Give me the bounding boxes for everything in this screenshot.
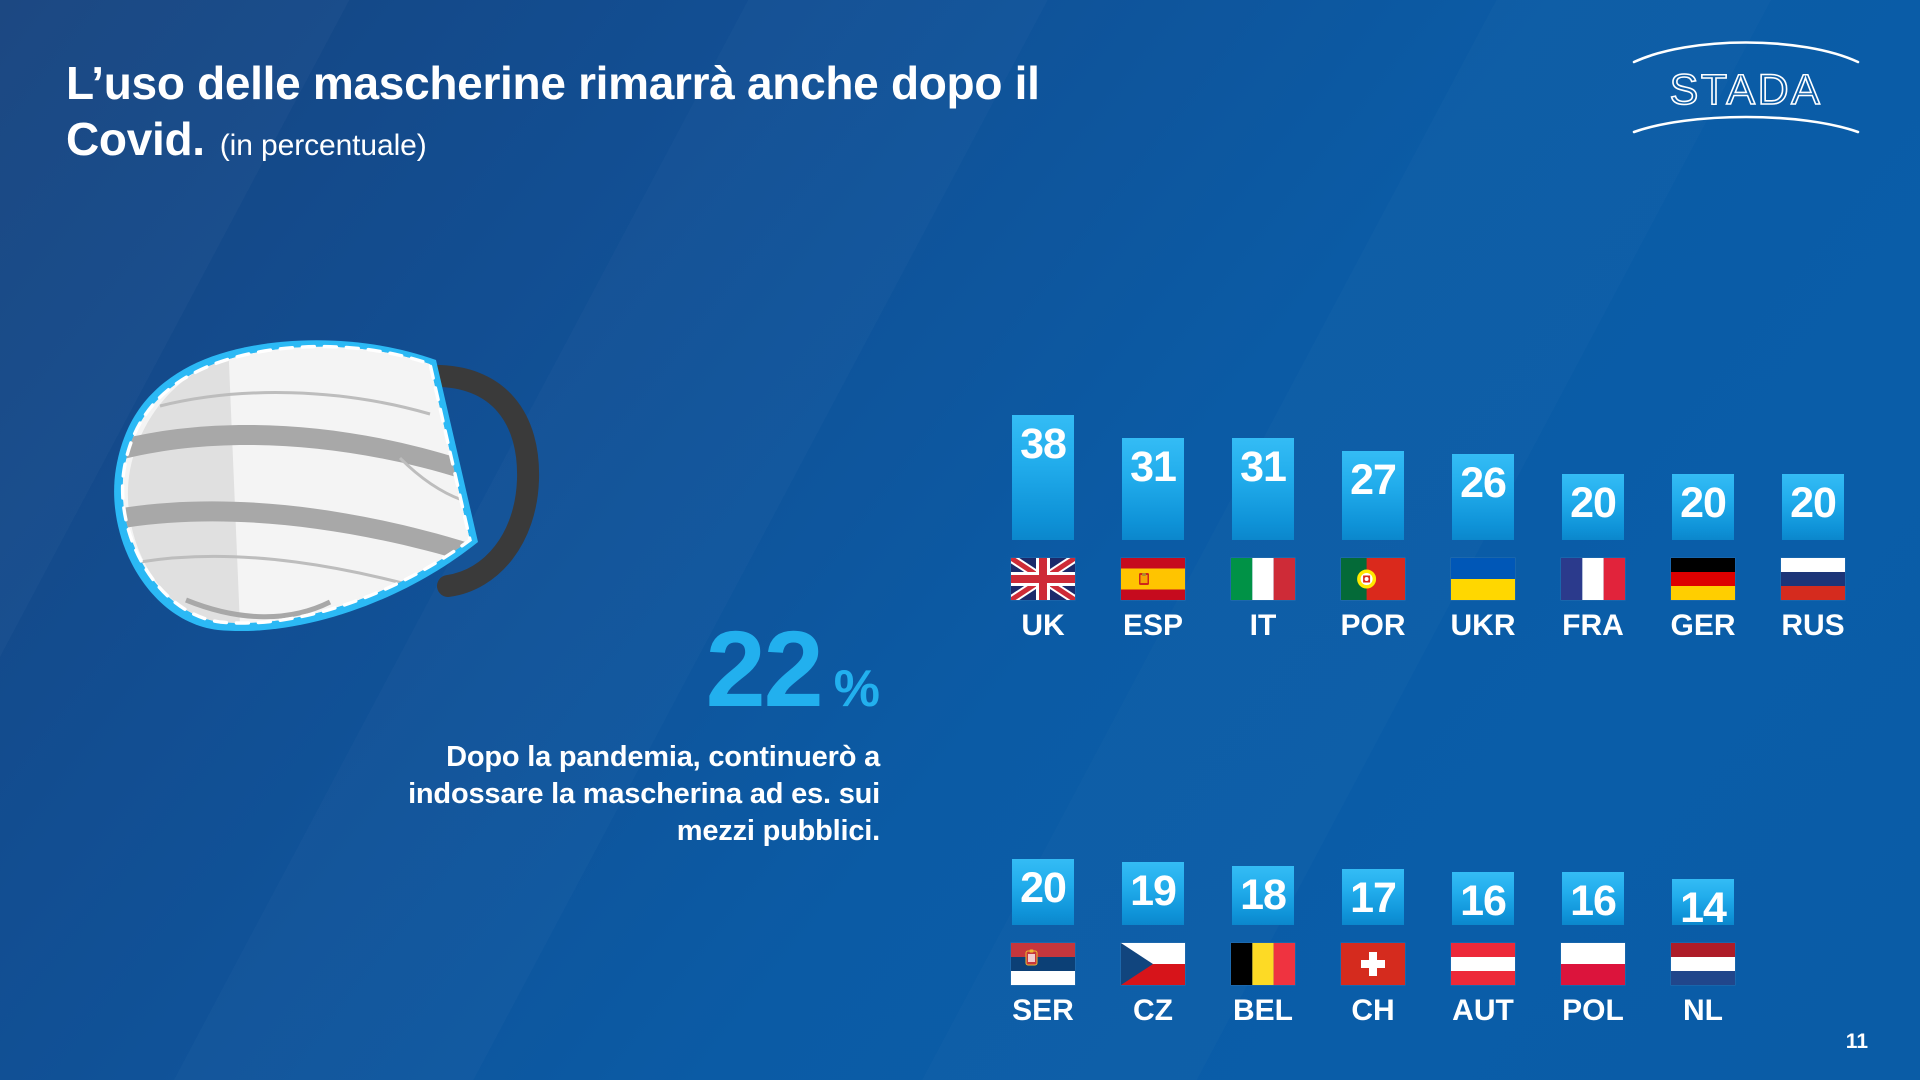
- value-bar: 18: [1232, 866, 1294, 925]
- bar-value-label: 20: [1562, 482, 1624, 525]
- bar-value-label: 26: [1452, 462, 1514, 505]
- value-bar: 38: [1012, 415, 1074, 540]
- bar-value-label: 31: [1122, 446, 1184, 489]
- country-stat-cz: 19 CZ: [1098, 800, 1208, 1026]
- country-stat-ger: 20 GER: [1648, 415, 1758, 641]
- bar-value-label: 31: [1232, 446, 1294, 489]
- value-bar: 14: [1672, 879, 1734, 925]
- value-bar: 20: [1782, 474, 1844, 540]
- headline-stat-number: 22 %: [706, 615, 880, 723]
- bar-zone: 31: [1208, 415, 1318, 540]
- headline-stat-unit: %: [834, 663, 880, 715]
- country-code-label: IT: [1250, 611, 1277, 641]
- country-stat-aut: 16 AUT: [1428, 800, 1538, 1026]
- country-stat-ch: 17 CH: [1318, 800, 1428, 1026]
- czech-republic-flag: [1121, 943, 1185, 985]
- country-code-label: CH: [1351, 996, 1394, 1026]
- bar-value-label: 20: [1672, 482, 1734, 525]
- bar-zone: 20: [1648, 415, 1758, 540]
- value-bar: 16: [1562, 872, 1624, 925]
- country-stat-ser: 20 SER: [988, 800, 1098, 1026]
- bar-value-label: 27: [1342, 459, 1404, 502]
- country-code-label: BEL: [1233, 996, 1293, 1026]
- bar-zone: 20: [1758, 415, 1868, 540]
- value-bar: 31: [1122, 438, 1184, 540]
- switzerland-flag: [1341, 943, 1405, 985]
- bar-zone: 19: [1098, 800, 1208, 925]
- country-code-label: GER: [1670, 611, 1735, 641]
- bar-zone: 38: [988, 415, 1098, 540]
- bar-value-label: 20: [1012, 867, 1074, 910]
- country-code-label: FRA: [1562, 611, 1624, 641]
- bar-value-label: 19: [1122, 870, 1184, 913]
- bar-value-label: 20: [1782, 482, 1844, 525]
- country-code-label: CZ: [1133, 996, 1173, 1026]
- country-row-2: 20 SER19 CZ18 BEL17 CH16 AUT16 POL14 NL: [988, 800, 1758, 1026]
- bar-value-label: 18: [1232, 874, 1294, 917]
- country-stat-por: 27 POR: [1318, 415, 1428, 641]
- headline-stat-value: 22: [706, 615, 822, 723]
- italy-flag: [1231, 558, 1295, 600]
- title-line-2-main: Covid.: [66, 111, 205, 167]
- stada-logo: STADA: [1630, 32, 1862, 144]
- value-bar: 20: [1562, 474, 1624, 540]
- netherlands-flag: [1671, 943, 1735, 985]
- bar-zone: 16: [1428, 800, 1538, 925]
- bar-zone: 18: [1208, 800, 1318, 925]
- bar-value-label: 16: [1452, 880, 1514, 923]
- country-stat-bel: 18 BEL: [1208, 800, 1318, 1026]
- bar-zone: 27: [1318, 415, 1428, 540]
- country-stat-nl: 14 NL: [1648, 800, 1758, 1026]
- serbia-flag: [1011, 943, 1075, 985]
- bar-zone: 20: [1538, 415, 1648, 540]
- bar-zone: 17: [1318, 800, 1428, 925]
- country-code-label: ESP: [1123, 611, 1183, 641]
- russia-flag: [1781, 558, 1845, 600]
- value-bar: 16: [1452, 872, 1514, 925]
- country-code-label: UKR: [1451, 611, 1516, 641]
- value-bar: 20: [1012, 859, 1074, 925]
- country-code-label: NL: [1683, 996, 1723, 1026]
- country-code-label: RUS: [1781, 611, 1844, 641]
- svg-text:STADA: STADA: [1670, 66, 1823, 114]
- poland-flag: [1561, 943, 1625, 985]
- country-stat-it: 31 IT: [1208, 415, 1318, 641]
- united-kingdom-flag: [1011, 558, 1075, 600]
- france-flag: [1561, 558, 1625, 600]
- title-subtitle: (in percentuale): [220, 118, 427, 174]
- title-line-2: Covid. (in percentuale): [66, 111, 1326, 174]
- country-code-label: UK: [1021, 611, 1064, 641]
- bar-value-label: 17: [1342, 877, 1404, 920]
- bar-zone: 14: [1648, 800, 1758, 925]
- country-code-label: POR: [1340, 611, 1405, 641]
- page-number: 11: [1846, 1030, 1868, 1054]
- bar-value-label: 38: [1012, 423, 1074, 466]
- value-bar: 17: [1342, 869, 1404, 925]
- country-code-label: POL: [1562, 996, 1624, 1026]
- headline-statistic: 22 % Dopo la pandemia, continuerò a indo…: [380, 615, 880, 850]
- country-code-label: SER: [1012, 996, 1074, 1026]
- portugal-flag: [1341, 558, 1405, 600]
- country-stat-rus: 20 RUS: [1758, 415, 1868, 641]
- bar-value-label: 16: [1562, 880, 1624, 923]
- germany-flag: [1671, 558, 1735, 600]
- spain-flag: [1121, 558, 1185, 600]
- belgium-flag: [1231, 943, 1295, 985]
- value-bar: 31: [1232, 438, 1294, 540]
- value-bar: 26: [1452, 454, 1514, 540]
- country-code-label: AUT: [1452, 996, 1514, 1026]
- title-line-1: L’uso delle mascherine rimarrà anche dop…: [66, 55, 1326, 111]
- country-row-1: 38 UK31 ESP31 IT27 POR26 UKR20 FRA20 GER…: [988, 415, 1868, 641]
- bar-zone: 16: [1538, 800, 1648, 925]
- country-stat-fra: 20 FRA: [1538, 415, 1648, 641]
- value-bar: 20: [1672, 474, 1734, 540]
- country-stat-uk: 38 UK: [988, 415, 1098, 641]
- value-bar: 27: [1342, 451, 1404, 540]
- austria-flag: [1451, 943, 1515, 985]
- value-bar: 19: [1122, 862, 1184, 925]
- page-title: L’uso delle mascherine rimarrà anche dop…: [66, 55, 1326, 174]
- country-stat-esp: 31 ESP: [1098, 415, 1208, 641]
- country-stat-pol: 16 POL: [1538, 800, 1648, 1026]
- ukraine-flag: [1451, 558, 1515, 600]
- headline-stat-description: Dopo la pandemia, continuerò a indossare…: [380, 739, 880, 850]
- country-stat-ukr: 26 UKR: [1428, 415, 1538, 641]
- bar-zone: 20: [988, 800, 1098, 925]
- bar-zone: 26: [1428, 415, 1538, 540]
- bar-value-label: 14: [1672, 887, 1734, 930]
- bar-zone: 31: [1098, 415, 1208, 540]
